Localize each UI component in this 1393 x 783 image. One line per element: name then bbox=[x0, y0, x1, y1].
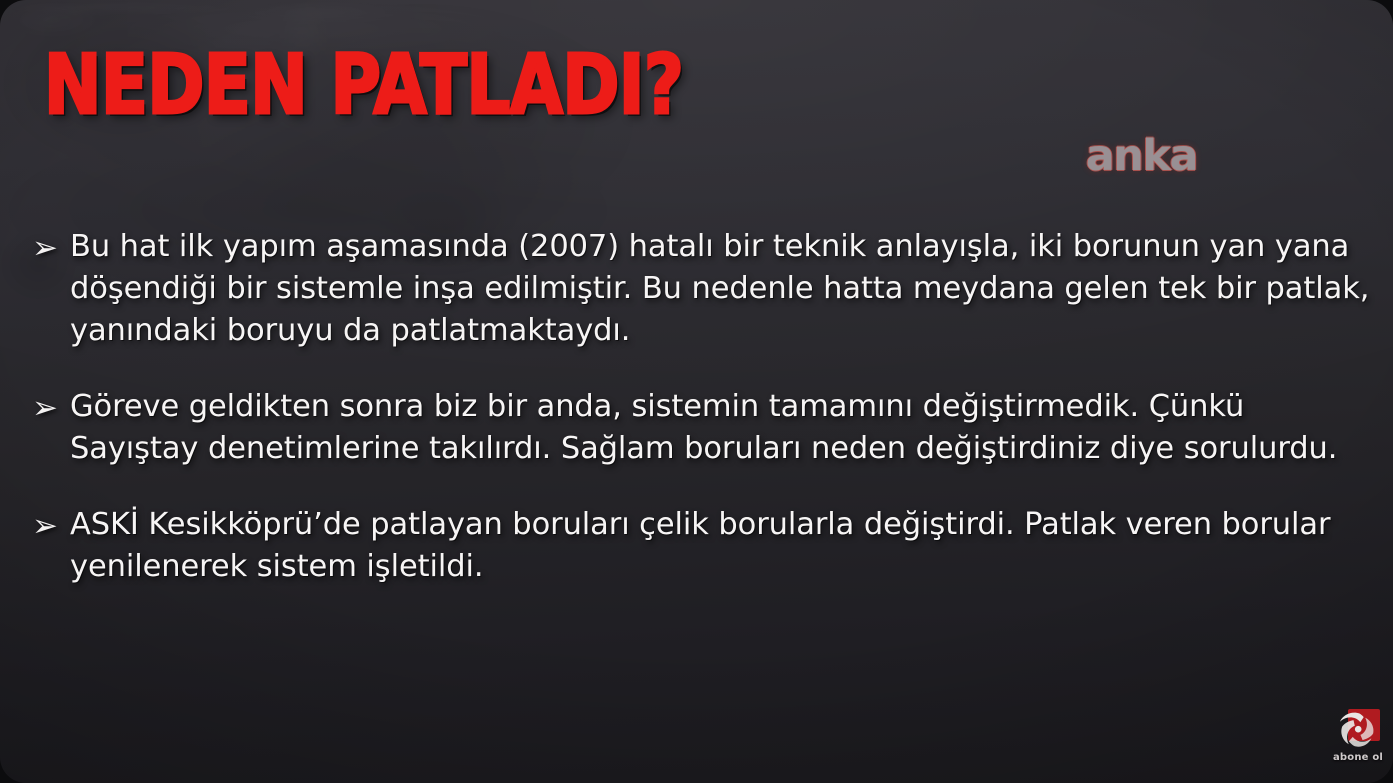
subscribe-label: abone ol bbox=[1331, 752, 1385, 763]
list-item: ➢ ASKİ Kesikköprü’de patlayan boruları ç… bbox=[26, 504, 1374, 588]
presentation-slide: NEDEN PATLADI? anka ➢ Bu hat ilk yapım a… bbox=[0, 0, 1393, 783]
anka-brand-watermark: anka bbox=[1086, 131, 1197, 181]
list-item-text: ASKİ Kesikköprü’de patlayan boruları çel… bbox=[70, 504, 1374, 588]
list-item-text: Göreve geldikten sonra biz bir anda, sis… bbox=[70, 386, 1374, 470]
bullet-list: ➢ Bu hat ilk yapım aşamasında (2007) hat… bbox=[26, 226, 1374, 588]
list-item-text: Bu hat ilk yapım aşamasında (2007) hatal… bbox=[70, 226, 1374, 352]
arrowhead-bullet-icon: ➢ bbox=[26, 226, 70, 269]
subscribe-badge[interactable]: abone ol bbox=[1331, 707, 1385, 769]
page-title: NEDEN PATLADI? bbox=[44, 47, 683, 126]
arrowhead-bullet-icon: ➢ bbox=[26, 386, 70, 429]
anka-phoenix-logo-icon bbox=[1334, 707, 1382, 751]
arrowhead-bullet-icon: ➢ bbox=[26, 504, 70, 547]
list-item: ➢ Göreve geldikten sonra biz bir anda, s… bbox=[26, 386, 1374, 470]
list-item: ➢ Bu hat ilk yapım aşamasında (2007) hat… bbox=[26, 226, 1374, 352]
phoenix-swirl-icon bbox=[1334, 707, 1382, 751]
